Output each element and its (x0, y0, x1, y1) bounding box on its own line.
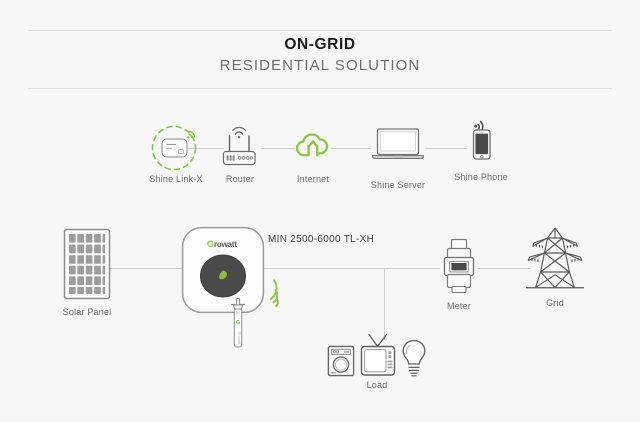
wire-bus-to-load (384, 268, 385, 340)
node-label: Shine Phone (454, 172, 508, 182)
wifi-dongle-icon: G Growatt (225, 296, 251, 352)
laptop-icon (371, 127, 425, 161)
title-primary: ON-GRID (0, 36, 640, 54)
shine-link-x-icon (148, 120, 204, 176)
node-shine-link-x[interactable]: Shine Link-X (148, 120, 204, 176)
wire-panel-to-inverter (110, 268, 185, 269)
wire-router-to-internet (261, 148, 295, 149)
node-router[interactable]: Router (221, 122, 261, 172)
television-icon (360, 333, 396, 377)
node-load[interactable]: Load (327, 333, 427, 377)
node-label: Meter (447, 301, 471, 311)
diagram-canvas: ON-GRID RESIDENTIAL SOLUTION Shine Link-… (0, 0, 640, 422)
solar-panel-icon (63, 228, 111, 300)
cloud-upload-icon (294, 129, 332, 159)
node-internet[interactable]: Internet (294, 129, 332, 159)
node-shine-phone[interactable]: Shine Phone (464, 116, 504, 164)
growatt-logo-rest: rowatt (214, 240, 237, 249)
divider-top (28, 30, 612, 31)
energy-meter-icon (440, 238, 478, 296)
light-bulb-icon (401, 339, 427, 377)
page-title: ON-GRID RESIDENTIAL SOLUTION (0, 36, 640, 76)
node-shine-server[interactable]: Shine Server (371, 127, 425, 161)
node-label: Router (226, 174, 254, 184)
node-label: Grid (546, 298, 564, 308)
router-icon (221, 122, 261, 172)
wifi-waves-icon (272, 288, 294, 310)
node-label: Load (367, 380, 388, 390)
svg-text:G: G (236, 320, 240, 326)
wire-server-to-phone (425, 148, 467, 149)
node-meter[interactable]: Meter (440, 238, 478, 296)
node-label: Solar Panel (63, 307, 112, 317)
wire-internet-to-server (331, 148, 371, 149)
growatt-logo-g: G (207, 240, 214, 249)
node-solar-panel[interactable]: Solar Panel (63, 228, 111, 300)
node-label: Shine Link-X (149, 174, 202, 184)
smartphone-icon (464, 116, 504, 164)
title-secondary: RESIDENTIAL SOLUTION (0, 56, 640, 76)
node-label: Internet (297, 174, 329, 184)
transmission-tower-icon (522, 226, 588, 294)
growatt-logo: G rowatt (207, 240, 237, 249)
node-inverter[interactable]: G rowatt (181, 226, 265, 314)
wire-inverter-to-meter (260, 268, 440, 269)
node-label: Shine Server (371, 180, 425, 190)
divider-bottom (28, 88, 612, 89)
load-appliances (327, 333, 427, 377)
svg-text:Growatt: Growatt (237, 332, 241, 345)
washing-machine-icon (327, 345, 355, 377)
inverter-model-label: MIN 2500-6000 TL-XH (268, 234, 374, 245)
node-grid[interactable]: Grid (522, 226, 588, 294)
node-wifi-dongle[interactable]: G Growatt (225, 296, 251, 352)
